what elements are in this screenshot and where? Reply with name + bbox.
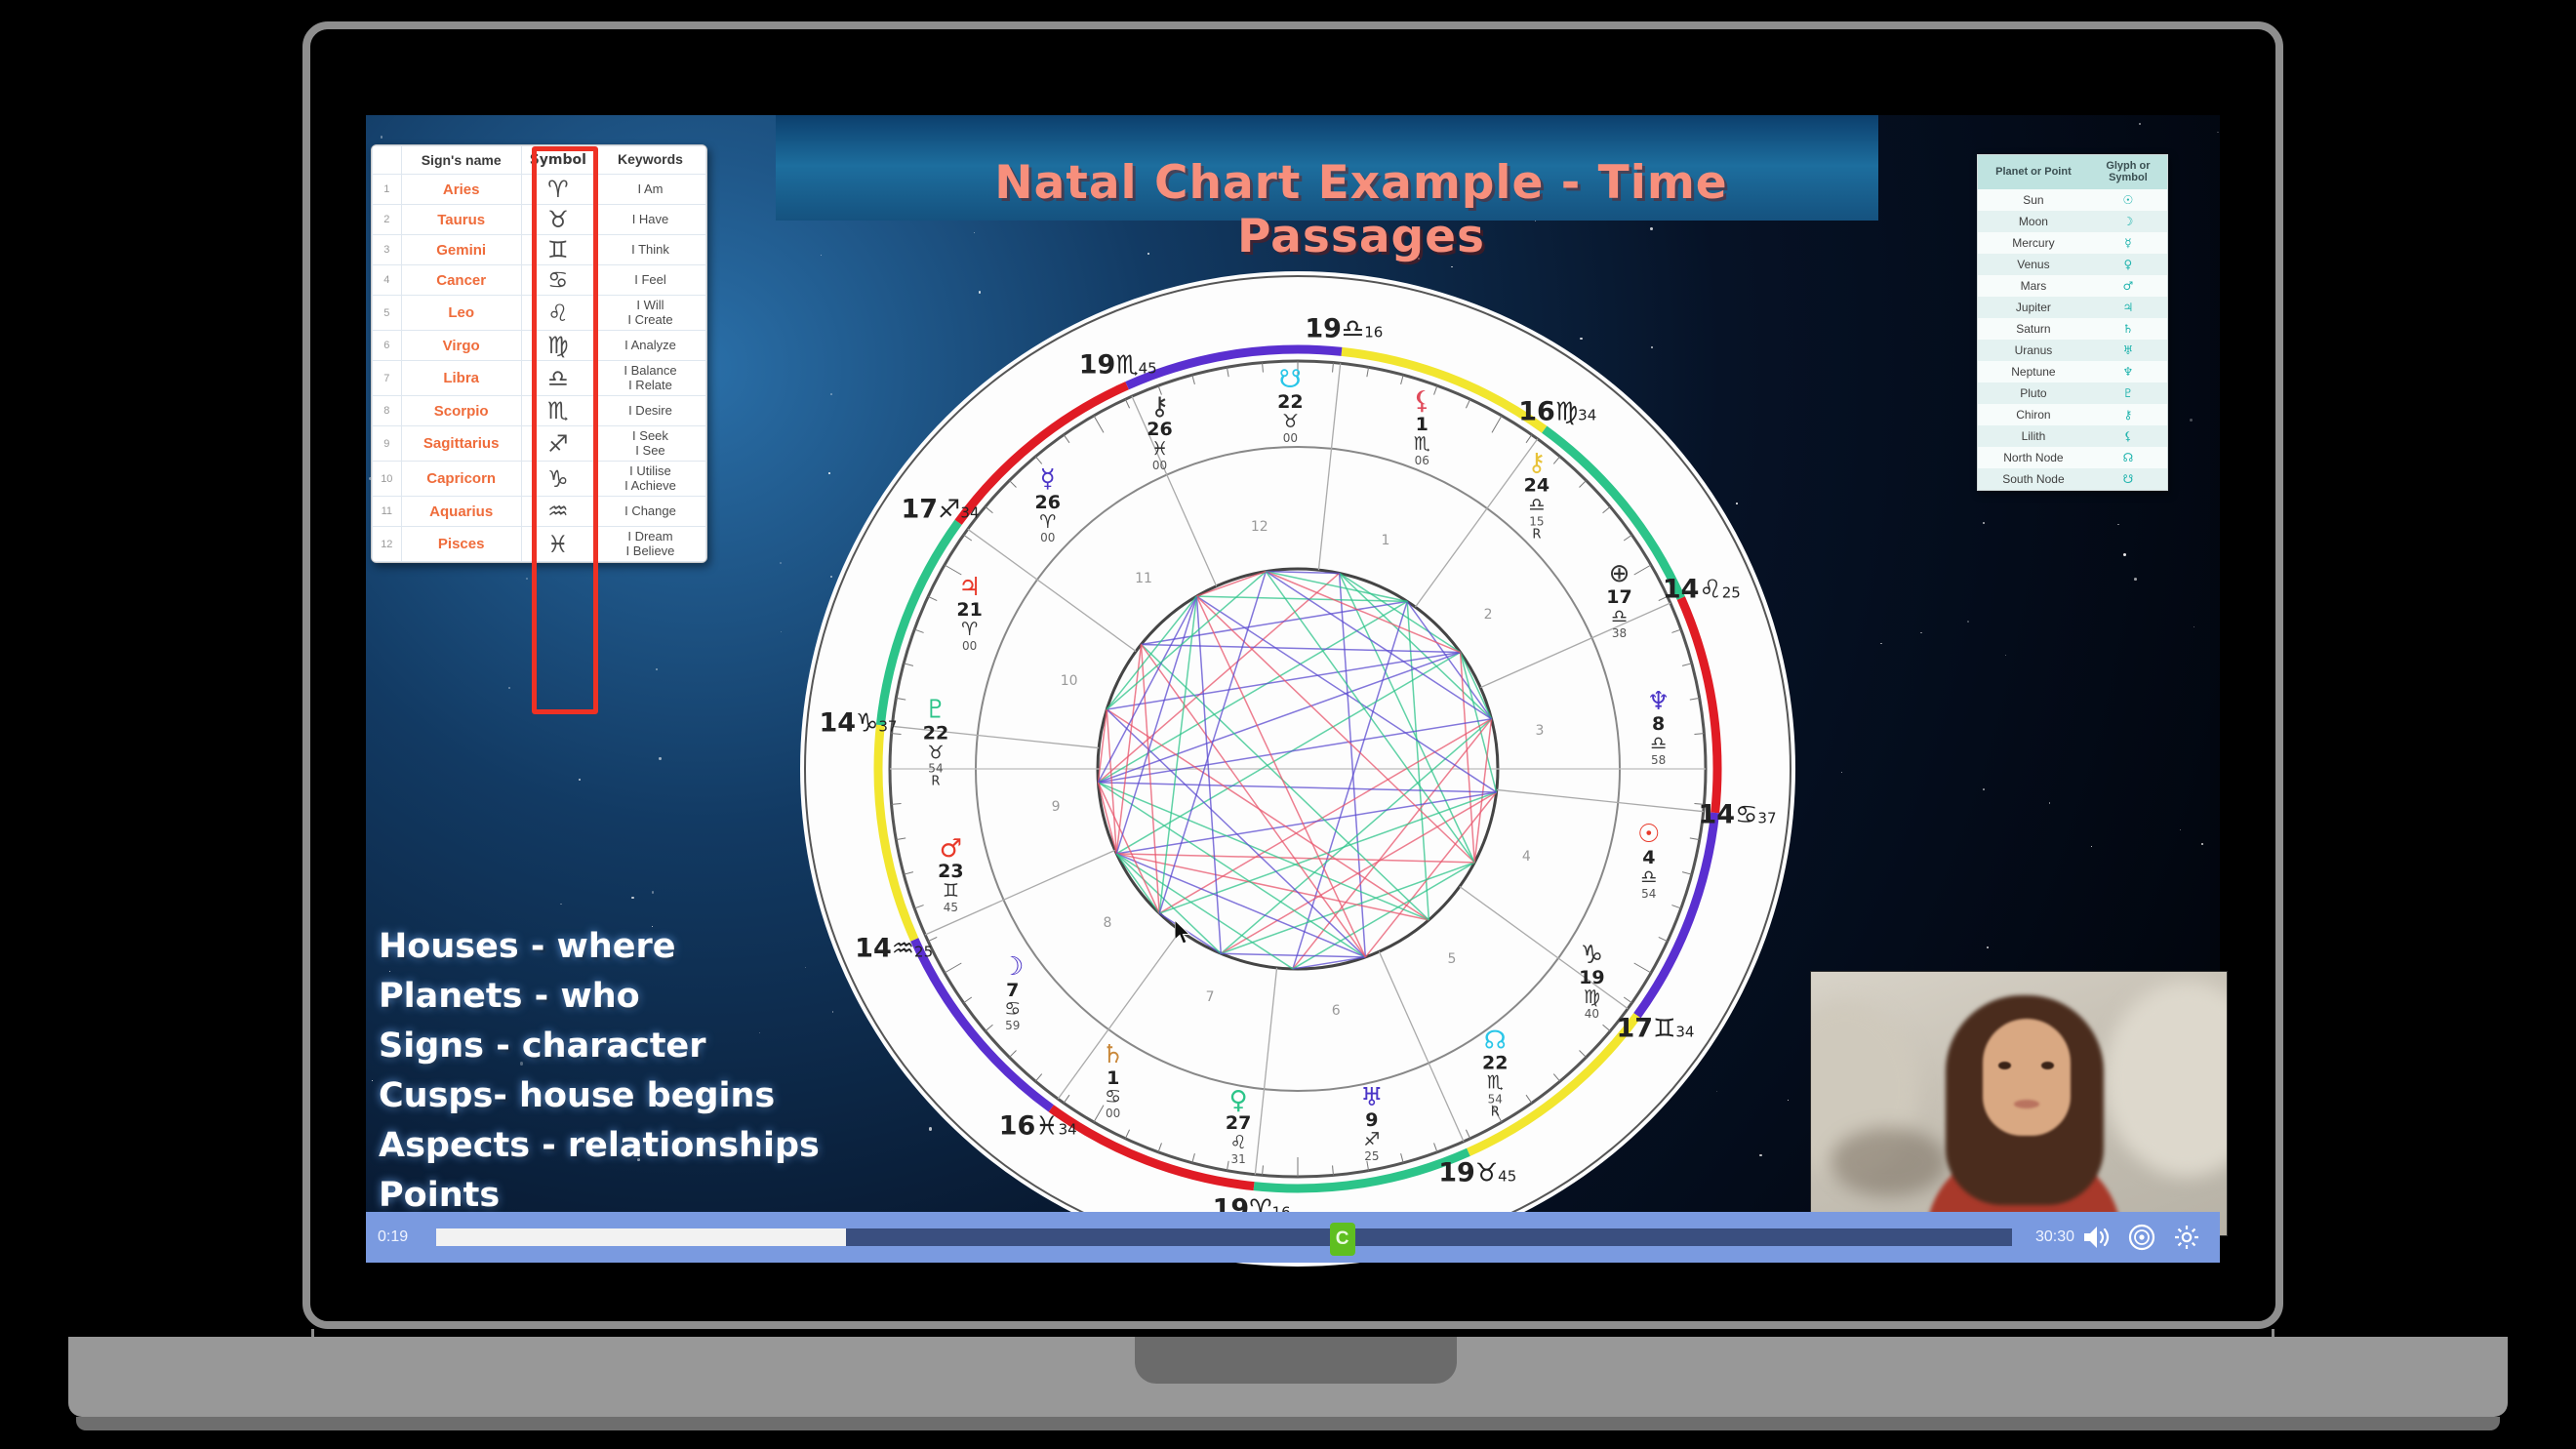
star	[508, 687, 510, 689]
cell-planet-name: North Node	[1978, 447, 2089, 468]
planet-minute: 00	[1102, 1108, 1124, 1121]
star	[631, 897, 633, 899]
cusp-degree-label: 19♉45	[1438, 1157, 1516, 1187]
cusp-degree-label: 14♑37	[819, 707, 897, 738]
table-row: 4Cancer♋I Feel	[373, 265, 706, 296]
planet-sign-glyph: ♎	[1606, 608, 1631, 627]
planet-placement: ⚷24♎15R	[1524, 450, 1550, 541]
cell-name: Aquarius	[401, 497, 521, 527]
total-time-label: 30:30	[2018, 1228, 2074, 1246]
col-header-planet: Planet or Point	[1978, 155, 2089, 189]
playhead-handle[interactable]: C	[1330, 1223, 1355, 1256]
cell-planet-glyph: ♆	[2089, 361, 2167, 382]
cusp-sign-glyph: ♏	[1115, 351, 1138, 381]
cell-name: Cancer	[401, 265, 521, 296]
star	[2049, 802, 2050, 803]
cusp-sign-glyph: ♐	[938, 495, 960, 524]
current-time-label: 0:19	[378, 1228, 430, 1246]
cusp-degree: 16	[999, 1111, 1036, 1142]
cell-num: 1	[373, 175, 402, 205]
table-row: Jupiter♃	[1978, 297, 2167, 318]
star	[2117, 524, 2118, 525]
table-row: Uranus♅	[1978, 340, 2167, 361]
planet-glyph: ☿	[1035, 466, 1061, 493]
cell-symbol: ♑	[521, 462, 594, 497]
progress-scrubber-track[interactable]: C	[436, 1228, 2012, 1246]
cell-symbol: ♌	[521, 296, 594, 331]
planet-minute: 25	[1360, 1150, 1383, 1163]
cusp-degree: 16	[1518, 396, 1555, 426]
planet-glyph: ♄	[1102, 1042, 1124, 1068]
cell-keywords: I BalanceI Relate	[594, 361, 705, 396]
cell-planet-glyph: ☽	[2089, 211, 2167, 232]
cell-symbol: ♍	[521, 331, 594, 361]
cusp-sign-glyph: ♍	[1555, 397, 1578, 426]
house-number: 7	[1206, 989, 1215, 1005]
cusp-degree-label: 16♍34	[1518, 396, 1596, 426]
planet-placement: ♆8♎58	[1647, 689, 1670, 767]
planet-sign-glyph: ♌	[1226, 1134, 1251, 1153]
planet-placement: ☋22♉00	[1277, 367, 1303, 445]
cell-symbol: ♐	[521, 426, 594, 462]
star	[1987, 946, 1989, 948]
cusp-degree: 14	[1699, 800, 1736, 830]
planet-placement: ⊕17♎38	[1606, 561, 1631, 639]
cell-name: Virgo	[401, 331, 521, 361]
planet-sign-glyph: ♓	[1147, 440, 1172, 460]
cusp-sign-glyph: ♊	[1653, 1015, 1675, 1044]
cusp-degree-label: 14♌25	[1663, 574, 1741, 604]
cell-planet-name: Mercury	[1978, 232, 2089, 254]
cell-num: 5	[373, 296, 402, 331]
planet-glyph: ♅	[1360, 1085, 1383, 1111]
house-number: 5	[1447, 951, 1456, 967]
natal-chart-svg	[800, 271, 1815, 1267]
house-number: 9	[1052, 799, 1061, 815]
cell-planet-glyph: ⚷	[2089, 404, 2167, 425]
cell-keywords: I Have	[594, 205, 705, 235]
cell-planet-glyph: ☊	[2089, 447, 2167, 468]
house-number: 3	[1535, 723, 1544, 739]
planet-sign-glyph: ♉	[1277, 413, 1303, 432]
table-row: Neptune♆	[1978, 361, 2167, 382]
planet-sign-glyph: ♍	[1579, 988, 1604, 1008]
cell-num: 8	[373, 396, 402, 426]
presenter-webcam[interactable]	[1810, 971, 2228, 1236]
house-number: 11	[1135, 571, 1152, 586]
planet-sign-glyph: ♏	[1413, 435, 1431, 455]
star	[2005, 655, 2006, 656]
planet-minute: 00	[1035, 533, 1061, 545]
cell-keywords: I Am	[594, 175, 705, 205]
planet-sign-glyph: ♉	[923, 744, 948, 763]
planet-glyph: ♆	[1647, 689, 1670, 715]
bullet-item: Aspects - relationships	[379, 1121, 820, 1171]
cell-name: Gemini	[401, 235, 521, 265]
cell-planet-name: Chiron	[1978, 404, 2089, 425]
house-number: 8	[1103, 915, 1111, 931]
cell-keywords: I Desire	[594, 396, 705, 426]
cell-name: Pisces	[401, 527, 521, 562]
star	[579, 779, 581, 781]
planet-degree: 22	[923, 724, 948, 744]
cell-planet-name: Jupiter	[1978, 297, 2089, 318]
planet-minute: 54	[1482, 1094, 1508, 1107]
star	[1920, 632, 1922, 634]
planet-minute: 06	[1413, 455, 1431, 467]
planet-minute: 58	[1647, 754, 1670, 767]
presenter-eye-left	[1998, 1062, 2011, 1069]
cell-num: 6	[373, 331, 402, 361]
cusp-minute: 34	[960, 503, 979, 521]
planet-placement: ☿26♈00	[1035, 466, 1061, 544]
video-player-controls[interactable]: 0:19 C 30:30	[366, 1212, 2220, 1263]
star	[2091, 846, 2092, 847]
progress-played-fill	[436, 1228, 846, 1246]
cusp-degree: 14	[819, 707, 856, 738]
star	[2190, 419, 2193, 422]
cell-num: 9	[373, 426, 402, 462]
cell-keywords: I Change	[594, 497, 705, 527]
star	[659, 757, 661, 759]
cell-keywords: I DreamI Believe	[594, 527, 705, 562]
cusp-minute: 45	[1498, 1167, 1516, 1185]
cell-planet-name: Uranus	[1978, 340, 2089, 361]
table-row: 11Aquarius♒I Change	[373, 497, 706, 527]
planet-sign-glyph: ♏	[1482, 1074, 1508, 1094]
bullet-item: Cusps- house begins	[379, 1071, 820, 1121]
natal-chart-wheel[interactable]: 19♎1616♍3414♌2514♋3717♊3419♉4519♈1616♓34…	[800, 271, 1815, 1267]
cusp-minute: 25	[1722, 584, 1741, 601]
cell-planet-glyph: ♇	[2089, 382, 2167, 404]
cell-name: Taurus	[401, 205, 521, 235]
volume-icon[interactable]	[2077, 1218, 2116, 1257]
cusp-degree: 14	[1663, 574, 1700, 604]
page-title: Natal Chart Example - Time Passages	[907, 156, 1815, 263]
planet-sign-glyph: ♎	[1524, 497, 1550, 516]
cell-num: 11	[373, 497, 402, 527]
col-header-symbol: Symbol	[521, 146, 594, 175]
cell-keywords: I Think	[594, 235, 705, 265]
retrograde-marker: R	[1482, 1106, 1508, 1119]
planet-sign-glyph: ♈	[1035, 513, 1061, 533]
planet-glyph: ⚷	[1147, 394, 1172, 421]
bullet-item: Planets - who	[379, 972, 820, 1022]
table-row: Saturn♄	[1978, 318, 2167, 340]
planet-placement: ♃21♈00	[956, 575, 982, 653]
star	[2201, 843, 2203, 845]
star	[372, 1080, 373, 1081]
cusp-degree: 17	[902, 494, 939, 524]
planet-placement: ♄1♋00	[1102, 1042, 1124, 1120]
cell-planet-glyph: ☋	[2089, 468, 2167, 490]
cusp-degree: 14	[855, 934, 892, 964]
planet-glyph: ☉	[1637, 823, 1660, 849]
cell-planet-name: Mars	[1978, 275, 2089, 297]
planet-minute: 45	[938, 902, 963, 914]
col-header-glyph: Glyph or Symbol	[2089, 155, 2167, 189]
planet-glyph: ♑	[1579, 943, 1604, 969]
cusp-sign-glyph: ♉	[1475, 1158, 1498, 1187]
star	[652, 891, 654, 893]
bullet-item: Houses - where	[379, 922, 820, 972]
planet-sign-glyph: ♋	[1001, 1001, 1024, 1021]
planet-degree: 22	[1482, 1055, 1508, 1074]
planet-glyph: ☽	[1001, 954, 1024, 981]
cell-planet-glyph: ⚸	[2089, 425, 2167, 447]
star	[2217, 132, 2218, 133]
planet-placement: ♂23♊45	[938, 836, 963, 914]
cusp-sign-glyph: ♎	[1342, 315, 1364, 344]
cell-num: 3	[373, 235, 402, 265]
cell-keywords: I SeekI See	[594, 426, 705, 462]
planet-sign-glyph: ♐	[1360, 1132, 1383, 1151]
col-header-name: Sign's name	[401, 146, 521, 175]
planet-sign-glyph: ♈	[956, 621, 982, 640]
cusp-minute: 45	[1139, 360, 1157, 378]
captions-icon[interactable]	[2122, 1218, 2161, 1257]
zodiac-signs-table: Sign's name Symbol Keywords 1Aries♈I Am2…	[371, 144, 707, 563]
cell-planet-glyph: ☿	[2089, 232, 2167, 254]
cell-symbol: ♉	[521, 205, 594, 235]
cell-planet-glyph: ♅	[2089, 340, 2167, 361]
table-row: Chiron⚷	[1978, 404, 2167, 425]
table-row: 10Capricorn♑I UtiliseI Achieve	[373, 462, 706, 497]
cusp-minute: 34	[1578, 406, 1596, 423]
cusp-degree: 19	[1438, 1157, 1475, 1187]
cell-planet-glyph: ♃	[2089, 297, 2167, 318]
house-number: 10	[1061, 673, 1078, 689]
cell-planet-glyph: ☉	[2089, 189, 2167, 211]
star	[821, 255, 822, 256]
cell-planet-name: Lilith	[1978, 425, 2089, 447]
planet-glyph: ☊	[1482, 1027, 1508, 1054]
planet-placement: ♑19♍40	[1579, 943, 1604, 1021]
cusp-sign-glyph: ♌	[1699, 575, 1721, 604]
cell-planet-name: Venus	[1978, 254, 2089, 275]
star	[781, 631, 782, 632]
cusp-minute: 37	[878, 717, 897, 735]
table-row: 8Scorpio♏I Desire	[373, 396, 706, 426]
cell-name: Leo	[401, 296, 521, 331]
star	[656, 668, 658, 670]
planet-sign-glyph: ♎	[1637, 868, 1660, 888]
cusp-sign-glyph: ♒	[892, 935, 914, 964]
presenter-face	[1983, 1019, 2071, 1136]
planet-minute: 00	[1277, 432, 1303, 445]
planet-placement: ♇22♉54R	[923, 698, 948, 788]
cell-planet-name: Pluto	[1978, 382, 2089, 404]
star	[1967, 621, 1969, 623]
planet-placement: ⚸1♏06	[1413, 389, 1431, 467]
table-row: Mercury☿	[1978, 232, 2167, 254]
planet-sign-glyph: ♊	[938, 882, 963, 902]
cell-name: Aries	[401, 175, 521, 205]
cell-planet-name: Saturn	[1978, 318, 2089, 340]
concept-bullet-list: Houses - wherePlanets - whoSigns - chara…	[379, 922, 820, 1222]
planets-header-row: Planet or Point Glyph or Symbol	[1978, 155, 2167, 189]
planet-minute: 38	[1606, 627, 1631, 640]
star	[560, 904, 562, 906]
cell-planet-glyph: ♀	[2089, 254, 2167, 275]
col-header-keywords: Keywords	[594, 146, 705, 175]
cell-num: 10	[373, 462, 402, 497]
planet-sign-glyph: ♎	[1647, 735, 1670, 754]
planet-glyph: ☋	[1277, 367, 1303, 393]
table-row: 9Sagittarius♐I SeekI See	[373, 426, 706, 462]
star	[2134, 578, 2137, 581]
cusp-sign-glyph: ♓	[1035, 1112, 1058, 1142]
table-row: North Node☊	[1978, 447, 2167, 468]
star	[2194, 626, 2194, 627]
table-row: 12Pisces♓I DreamI Believe	[373, 527, 706, 562]
cell-keywords: I Analyze	[594, 331, 705, 361]
cell-symbol: ♓	[521, 527, 594, 562]
retrograde-marker: R	[1524, 528, 1550, 542]
cusp-minute: 34	[1675, 1024, 1694, 1041]
presenter-mouth	[2014, 1100, 2039, 1108]
star	[526, 578, 528, 580]
cell-num: 4	[373, 265, 402, 296]
cell-name: Scorpio	[401, 396, 521, 426]
cell-num: 12	[373, 527, 402, 562]
col-header-num	[373, 146, 402, 175]
star	[1841, 772, 1842, 773]
planet-glyph: ⊕	[1606, 561, 1631, 587]
star	[381, 136, 382, 138]
retrograde-marker: R	[923, 775, 948, 788]
planet-glyph: ⚸	[1413, 389, 1431, 416]
planet-sign-glyph: ♋	[1102, 1089, 1124, 1108]
star	[534, 711, 536, 713]
cusp-degree-label: 14♒25	[855, 934, 933, 964]
planet-degree: 24	[1524, 477, 1550, 497]
table-row: Sun☉	[1978, 189, 2167, 211]
planet-placement: ☉4♎54	[1637, 823, 1660, 901]
cusp-minute: 37	[1757, 810, 1776, 827]
cell-symbol: ♋	[521, 265, 594, 296]
house-number: 6	[1332, 1003, 1341, 1019]
cusp-sign-glyph: ♋	[1735, 801, 1757, 830]
cell-symbol: ♒	[521, 497, 594, 527]
star	[2123, 553, 2126, 556]
planet-placement: ☊22♏54R	[1482, 1027, 1508, 1118]
house-number: 12	[1251, 519, 1268, 535]
table-row: Mars♂	[1978, 275, 2167, 297]
cell-name: Sagittarius	[401, 426, 521, 462]
cell-planet-name: Moon	[1978, 211, 2089, 232]
mouse-cursor	[1175, 920, 1194, 947]
table-row: Lilith⚸	[1978, 425, 2167, 447]
planet-minute: 54	[1637, 888, 1660, 901]
planet-minute: 54	[923, 763, 948, 776]
cusp-minute: 34	[1059, 1121, 1077, 1139]
cusp-degree-label: 17♐34	[902, 494, 980, 524]
planet-glyph: ♇	[923, 698, 948, 724]
planet-minute: 59	[1001, 1021, 1024, 1033]
cusp-degree-label: 17♊34	[1616, 1014, 1694, 1044]
planet-placement: ☽7♋59	[1001, 954, 1024, 1032]
cell-symbol: ♈	[521, 175, 594, 205]
table-row: 7Libra♎I BalanceI Relate	[373, 361, 706, 396]
star	[2180, 829, 2181, 830]
table-row: 3Gemini♊I Think	[373, 235, 706, 265]
planet-glyph: ♀	[1226, 1088, 1251, 1114]
cell-num: 2	[373, 205, 402, 235]
cell-num: 7	[373, 361, 402, 396]
cusp-degree-label: 19♎16	[1305, 314, 1383, 344]
star	[1880, 643, 1882, 645]
star	[1983, 522, 1986, 525]
star	[2139, 123, 2140, 124]
cusp-minute: 16	[1364, 324, 1383, 342]
cell-name: Libra	[401, 361, 521, 396]
star	[1451, 266, 1452, 267]
presenter-eye-right	[2041, 1062, 2054, 1069]
house-number: 2	[1484, 607, 1493, 623]
table-row: 6Virgo♍I Analyze	[373, 331, 706, 361]
bullet-item: Signs - character	[379, 1022, 820, 1071]
planet-minute: 31	[1226, 1153, 1251, 1166]
table-row: 2Taurus♉I Have	[373, 205, 706, 235]
laptop-base-lip	[76, 1417, 2500, 1430]
star	[780, 562, 782, 564]
planet-glyph: ⚷	[1524, 450, 1550, 476]
table-row: Moon☽	[1978, 211, 2167, 232]
star	[1983, 788, 1985, 790]
table-row: South Node☋	[1978, 468, 2167, 490]
cell-planet-glyph: ♂	[2089, 275, 2167, 297]
planet-minute: 40	[1579, 1008, 1604, 1021]
planet-minute: 15	[1524, 515, 1550, 528]
cell-symbol: ♎	[521, 361, 594, 396]
table-row: 1Aries♈I Am	[373, 175, 706, 205]
planet-glyph: ♃	[956, 575, 982, 601]
table-header-row: Sign's name Symbol Keywords	[373, 146, 706, 175]
cusp-degree: 19	[1305, 314, 1342, 344]
cusp-degree-label: 14♋37	[1699, 800, 1777, 830]
planet-placement: ♅9♐25	[1360, 1085, 1383, 1163]
cell-keywords: I Feel	[594, 265, 705, 296]
settings-icon[interactable]	[2167, 1218, 2206, 1257]
planets-glyph-table: Planet or Point Glyph or Symbol Sun☉Moon…	[1977, 154, 2168, 491]
cusp-degree-label: 19♏45	[1079, 350, 1157, 381]
table-row: 5Leo♌I WillI Create	[373, 296, 706, 331]
cell-keywords: I WillI Create	[594, 296, 705, 331]
cell-planet-name: Sun	[1978, 189, 2089, 211]
cell-symbol: ♊	[521, 235, 594, 265]
house-number: 4	[1522, 849, 1531, 865]
table-row: Pluto♇	[1978, 382, 2167, 404]
planet-placement: ⚷26♓00	[1147, 394, 1172, 472]
cell-planet-glyph: ♄	[2089, 318, 2167, 340]
cusp-degree-label: 16♓34	[999, 1111, 1077, 1142]
cell-name: Capricorn	[401, 462, 521, 497]
planet-minute: 00	[1147, 460, 1172, 472]
planet-glyph: ♂	[938, 836, 963, 863]
planet-placement: ♀27♌31	[1226, 1088, 1251, 1166]
cusp-sign-glyph: ♑	[856, 708, 878, 738]
cell-planet-name: Neptune	[1978, 361, 2089, 382]
cell-symbol: ♏	[521, 396, 594, 426]
house-number: 1	[1381, 533, 1389, 548]
cell-keywords: I UtiliseI Achieve	[594, 462, 705, 497]
cusp-degree: 19	[1079, 350, 1116, 381]
cell-planet-name: South Node	[1978, 468, 2089, 490]
planet-minute: 00	[956, 640, 982, 653]
cusp-minute: 25	[914, 944, 933, 961]
cusp-degree: 17	[1616, 1014, 1653, 1044]
